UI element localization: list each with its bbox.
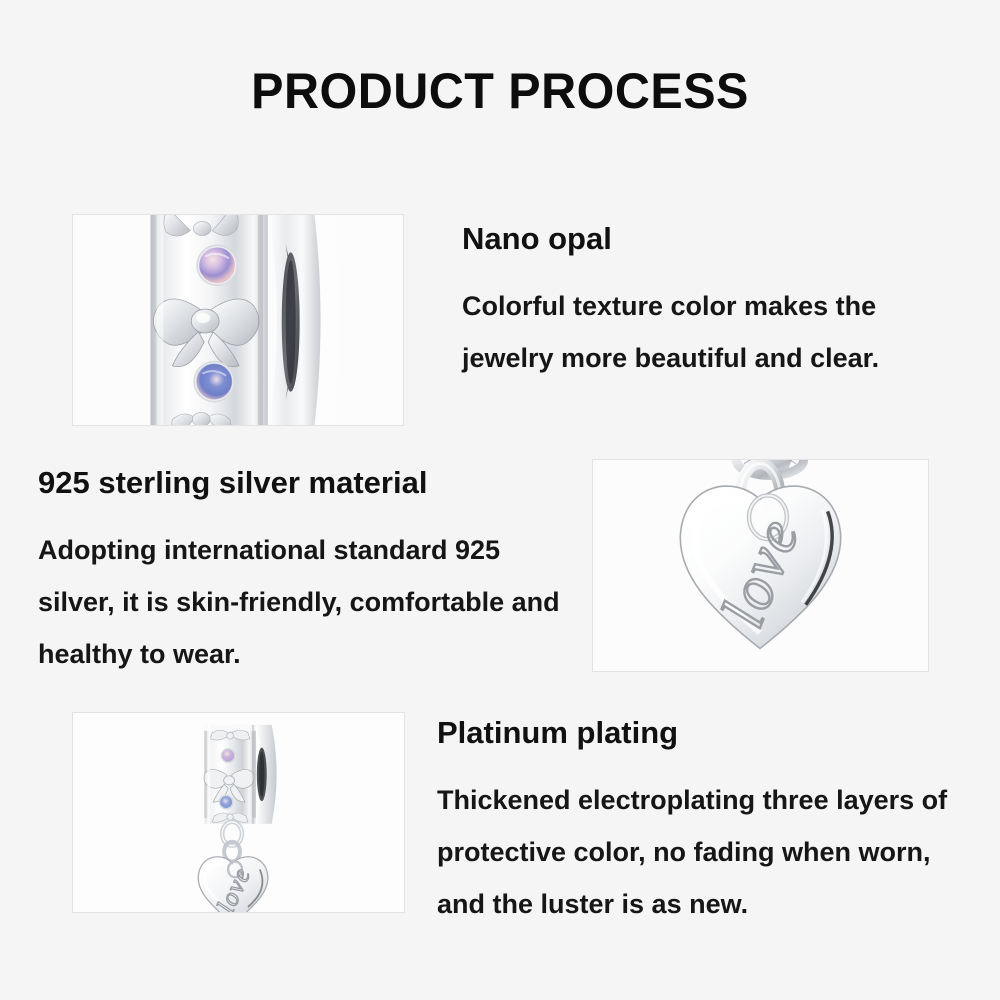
full-charm-image-frame: love: [72, 712, 405, 913]
nano-opal-image-frame: [72, 214, 404, 426]
sterling-silver-heading: 925 sterling silver material: [38, 466, 583, 500]
full-charm-with-dangle-photo: love: [73, 713, 404, 912]
nano-opal-heading: Nano opal: [462, 222, 922, 256]
opal-stone-lower: [193, 361, 235, 403]
bead-clip: [204, 725, 277, 824]
product-process-infographic: PRODUCT PROCESS: [0, 0, 1000, 1000]
opal-stone-upper: [196, 244, 238, 286]
nano-opal-body: Colorful texture color makes the jewelry…: [462, 280, 922, 384]
nano-opal-text-block: Nano opal Colorful texture color makes t…: [462, 222, 922, 384]
platinum-plating-heading: Platinum plating: [437, 716, 957, 750]
sterling-silver-text-block: 925 sterling silver material Adopting in…: [38, 466, 583, 680]
heart-love-image-frame: love: [592, 459, 929, 672]
heart-love-pendant-photo: love: [593, 460, 928, 671]
page-title: PRODUCT PROCESS: [15, 66, 985, 116]
platinum-plating-text-block: Platinum plating Thickened electroplatin…: [437, 716, 957, 930]
charm-bead-closeup-photo: [73, 215, 403, 425]
sterling-silver-body: Adopting international standard 925 silv…: [38, 524, 583, 680]
platinum-plating-body: Thickened electroplating three layers of…: [437, 774, 957, 930]
